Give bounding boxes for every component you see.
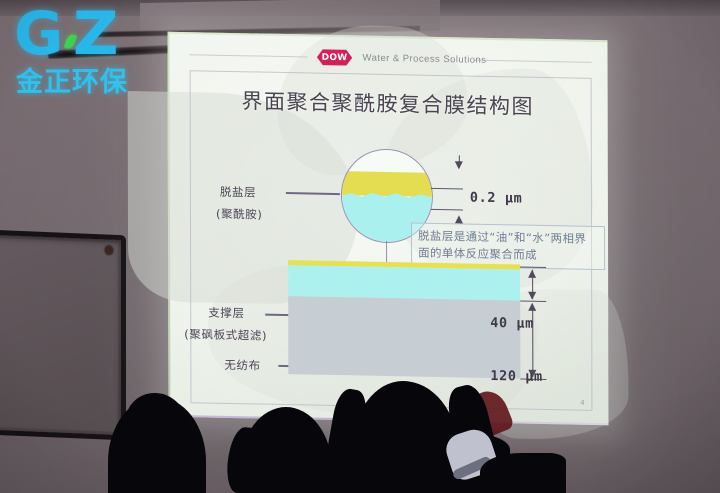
membrane-cross-section <box>288 260 520 378</box>
slide-page-number: 4 <box>581 400 585 407</box>
board-knob <box>105 245 113 254</box>
dimension-value-support: 40 μm <box>490 315 534 332</box>
header-rule-right <box>474 60 592 63</box>
company-logo: G Z 金正环保 <box>14 12 150 96</box>
layer-nonwoven <box>288 296 520 378</box>
arrow-up-icon <box>528 270 536 278</box>
logo-letter-g: G <box>14 8 63 60</box>
logo-company-name: 金正环保 <box>16 60 128 99</box>
label-nonwoven-fabric: 无纺布 <box>224 357 260 374</box>
label-desalination-layer-sub: (聚酰胺) <box>216 206 263 223</box>
logo-mark: G Z <box>14 12 150 66</box>
label-desalination-layer: 脱盐层 <box>220 184 256 201</box>
arrow-up-icon <box>528 303 536 311</box>
arrow-down-icon <box>528 292 536 300</box>
label-support-layer: 支撑层 <box>208 305 244 322</box>
dow-logo-text: DOW <box>314 49 356 67</box>
dimension-value-desalination: 0.2 μm <box>470 190 522 207</box>
screenshot-root: G Z 金正环保 DOW Water & Process Solutions 界… <box>0 0 720 493</box>
dow-logo-icon: DOW <box>314 49 356 67</box>
logo-letter-z: Z <box>73 8 119 60</box>
arrow-down-icon <box>455 161 463 169</box>
arrow-up-icon <box>455 215 463 223</box>
dimension-value-nonwoven: 120 μm <box>490 368 542 385</box>
wall-board <box>0 229 126 441</box>
label-support-layer-sub: (聚砜板式超滤) <box>184 326 267 344</box>
brand-tagline: Water & Process Solutions <box>363 53 487 66</box>
bubble-polyamide-band <box>342 171 432 197</box>
header-rule-left <box>190 54 308 57</box>
dimension-stem-120 <box>532 305 534 377</box>
audience-person-right-shoulder <box>480 453 566 493</box>
layer-support <box>288 265 520 300</box>
board-surface <box>0 237 118 432</box>
projection-screen: DOW Water & Process Solutions 界面聚合聚酰胺复合膜… <box>167 32 608 425</box>
brand-header: DOW Water & Process Solutions <box>314 49 487 69</box>
